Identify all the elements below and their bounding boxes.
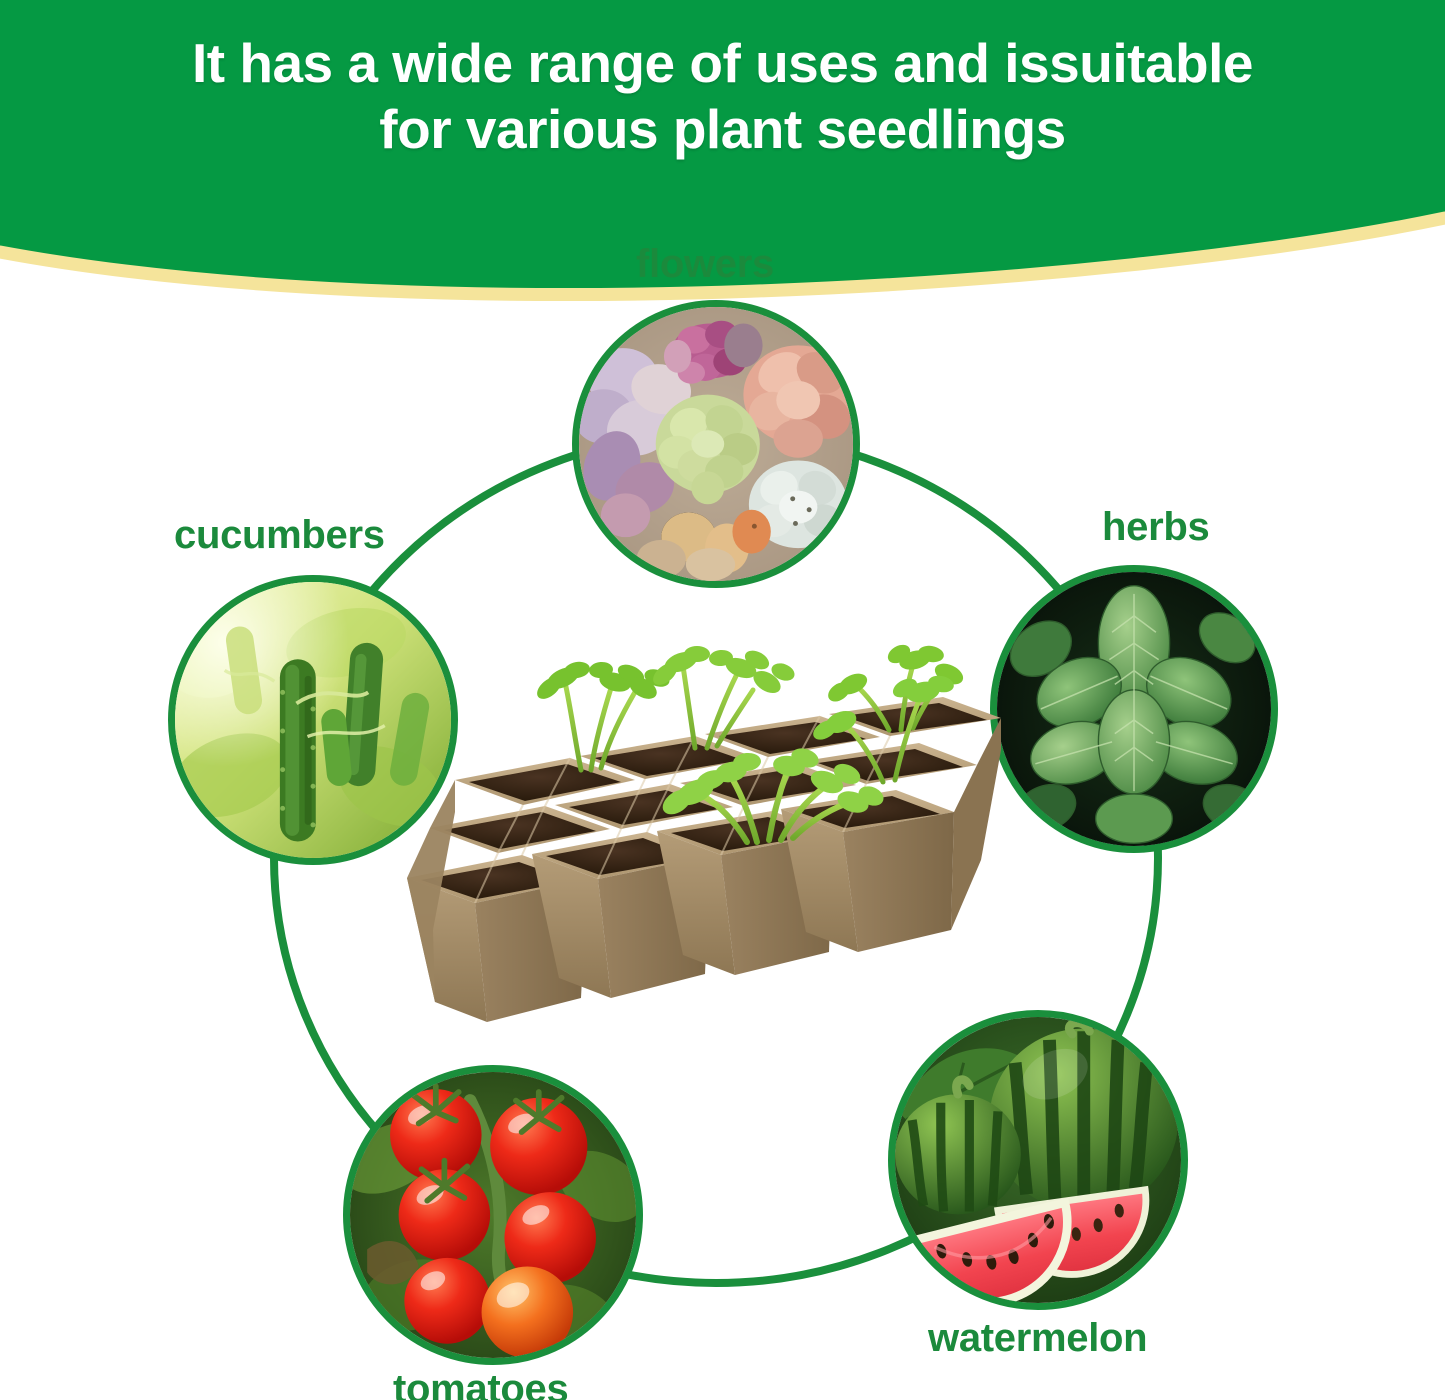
- tomatoes-illustration: [350, 1072, 636, 1358]
- node-label-cucumbers: cucumbers: [174, 513, 385, 558]
- node-label-tomatoes: tomatoes: [393, 1367, 568, 1400]
- succulents-illustration: [579, 307, 853, 581]
- seed-tray-product-image: [395, 630, 1045, 1080]
- diagram-stage: flowers: [0, 0, 1445, 1400]
- seed-tray-illustration: [395, 630, 1045, 1080]
- infographic-page: It has a wide range of uses and issuitab…: [0, 0, 1445, 1400]
- node-label-herbs: herbs: [1102, 505, 1209, 550]
- node-label-flowers: flowers: [636, 242, 774, 287]
- node-label-watermelon: watermelon: [928, 1316, 1147, 1361]
- flowers-photo: [572, 300, 860, 588]
- tomatoes-photo: [343, 1065, 643, 1365]
